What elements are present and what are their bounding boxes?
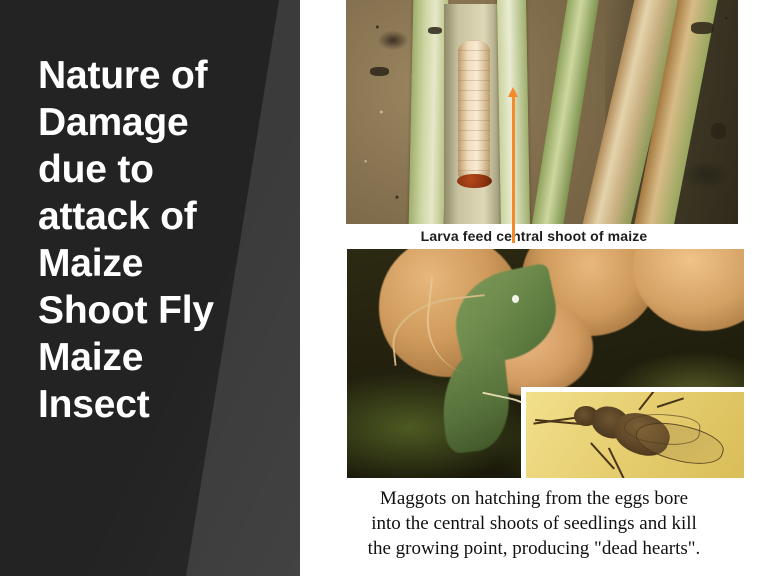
soil-debris [370,67,390,76]
seedling-photo-caption: Maggots on hatching from the eggs bore i… [310,486,758,561]
content-column: Larva feed central shoot of maize [300,0,768,576]
larva-photo-caption: Larva feed central shoot of maize [300,228,768,244]
title-panel: Nature of Damage due to attack of Maize … [0,0,300,576]
maize-stem-left-half [408,0,448,224]
leaf-highlight [512,295,519,303]
shoot-fly-inset [521,387,744,478]
fly-leg [657,397,684,407]
seedling-photo [347,249,744,478]
soil-debris [711,123,727,139]
up-arrow-icon [512,95,515,243]
fly-leg [639,387,663,410]
larva-body [458,40,490,183]
larva-photo [346,0,738,224]
slide-canvas: Nature of Damage due to attack of Maize … [0,0,768,576]
page-title: Nature of Damage due to attack of Maize … [38,52,268,428]
soil-debris [691,22,715,33]
soil-debris [428,27,442,34]
fly-leg [608,447,629,478]
larva-head [457,174,492,189]
